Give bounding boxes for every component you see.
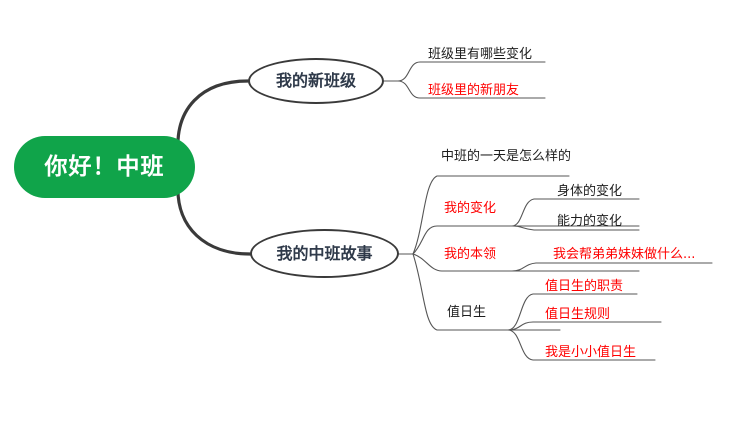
connector-lines [0,0,742,439]
topic-day-in-middle-class[interactable]: 中班的一天是怎么样的 [441,150,571,163]
topic-ability-changes[interactable]: 能力的变化 [557,215,622,228]
connector-root-to-new-class [178,81,248,150]
connector-myskill-to-help [512,263,712,271]
connector-newclass-to-changes [398,62,545,81]
topic-i-am-duty-student[interactable]: 我是小小值日生 [545,346,636,359]
branch-node-new-class-label: 我的新班级 [276,73,356,89]
topic-body-changes[interactable]: 身体的变化 [557,185,622,198]
connector-root-to-story [178,185,250,254]
topic-duty-rules[interactable]: 值日生规则 [545,308,610,321]
topic-my-changes[interactable]: 我的变化 [444,202,496,215]
topic-my-skills[interactable]: 我的本领 [444,248,496,261]
mindmap-canvas: 你好！中班 我的新班级 我的中班故事 班级里有哪些变化 班级里的新朋友 中班的一… [0,0,742,439]
topic-help-siblings[interactable]: 我会帮弟弟妹妹做什么... [553,248,695,261]
root-node[interactable]: 你好！中班 [14,136,195,198]
topic-duty-student[interactable]: 值日生 [447,306,486,319]
topic-class-changes[interactable]: 班级里有哪些变化 [428,48,532,61]
branch-node-story-label: 我的中班故事 [276,246,372,262]
connector-duty-to-rules [508,322,661,330]
connector-story-to-duty [413,254,560,330]
root-node-label: 你好！中班 [45,156,165,179]
topic-class-new-friends[interactable]: 班级里的新朋友 [428,84,519,97]
branch-node-new-class[interactable]: 我的新班级 [248,58,384,104]
topic-duty-responsibility[interactable]: 值日生的职责 [545,280,623,293]
branch-node-story[interactable]: 我的中班故事 [250,229,399,278]
